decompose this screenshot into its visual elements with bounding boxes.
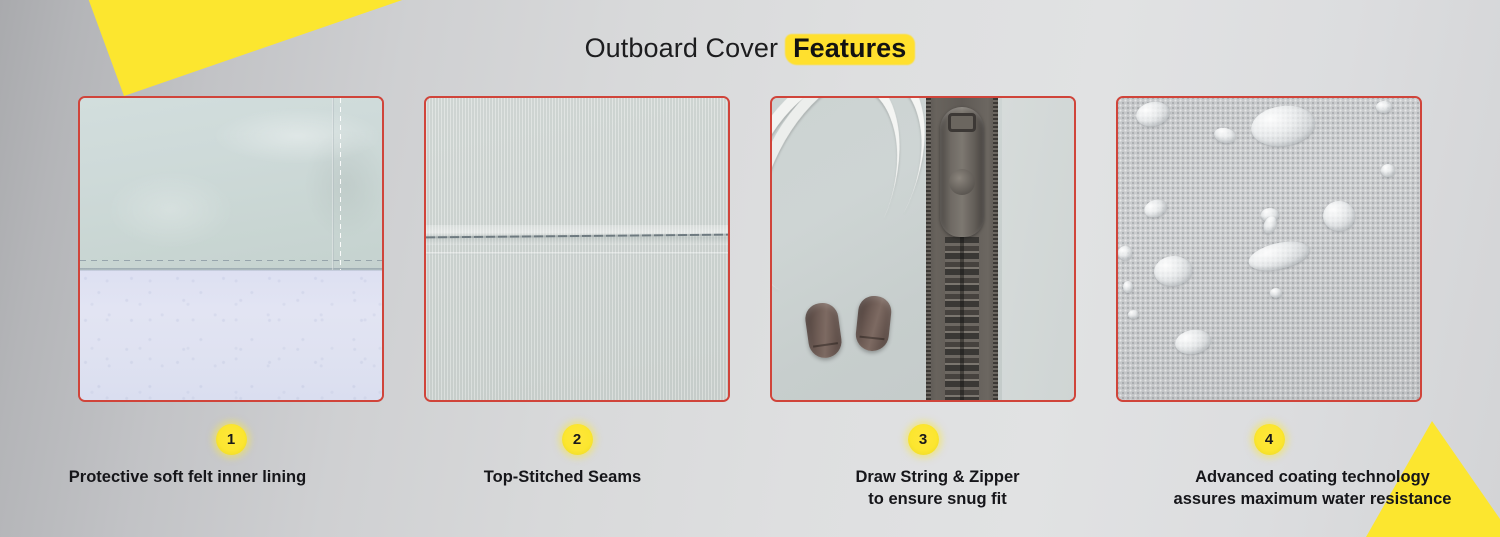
water-resistance-coating-photo [1118, 98, 1420, 400]
draw-string-and-zipper-photo [772, 98, 1074, 400]
feature-panel-2 [424, 96, 730, 402]
feature-number-badge-3: 3 [908, 424, 939, 455]
feature-number-badge-2: 2 [562, 424, 593, 455]
vertical-stitch-line [340, 98, 341, 270]
badge-cell-2: 2 [424, 424, 730, 455]
horizontal-stitch-line [80, 260, 382, 261]
zipper-teeth [945, 237, 979, 400]
water-droplet [1376, 101, 1392, 113]
protective-soft-felt-inner-lining-photo [80, 98, 382, 400]
felt-lining-layer [80, 270, 382, 400]
feature-caption-4: Advanced coating technology assures maxi… [1125, 466, 1500, 511]
water-droplet [1123, 281, 1133, 293]
feature-panel-1 [78, 96, 384, 402]
feature-caption-row: Protective soft felt inner lining Top-St… [0, 466, 1500, 511]
water-droplet [1270, 288, 1282, 298]
water-droplet [1128, 310, 1139, 319]
vertical-seam [332, 98, 334, 270]
feature-panel-4 [1116, 96, 1422, 402]
outboard-cover-features-infographic: Outboard CoverFeatures [0, 0, 1500, 537]
zipper-tape-edge-left [926, 98, 931, 400]
feature-number-badge-4: 4 [1254, 424, 1285, 455]
zipper-tape-edge-right [993, 98, 998, 400]
feature-caption-2-line-1: Top-Stitched Seams [383, 466, 742, 488]
cover-fabric-right [1002, 98, 1074, 400]
fabric-weave-texture [426, 98, 728, 400]
page-title-highlight-wrapper: Features [785, 33, 915, 64]
feature-caption-1: Protective soft felt inner lining [0, 466, 375, 511]
feature-caption-4-line-2: assures maximum water resistance [1133, 488, 1492, 510]
page-title-plain: Outboard Cover [585, 33, 779, 63]
feature-panel-3 [770, 96, 1076, 402]
feature-caption-2: Top-Stitched Seams [375, 466, 750, 511]
page-title-highlight-text: Features [793, 33, 906, 63]
seam-fold-ridge [426, 252, 728, 255]
water-droplet [1381, 164, 1395, 177]
feature-image-row [78, 96, 1422, 402]
page-title: Outboard CoverFeatures [0, 33, 1500, 64]
fabric-felt-seam-edge [80, 268, 382, 271]
feature-caption-3-line-1: Draw String & Zipper [758, 466, 1117, 488]
outer-fabric-layer [80, 98, 382, 270]
top-stitched-seams-photo [426, 98, 728, 400]
badge-cell-1: 1 [78, 424, 384, 455]
water-droplet [1118, 246, 1132, 260]
badge-cell-3: 3 [770, 424, 1076, 455]
badge-cell-4: 4 [1116, 424, 1422, 455]
zipper-tape [926, 98, 998, 400]
zipper-slider-pull [940, 107, 984, 237]
water-droplet [1323, 201, 1355, 231]
feature-caption-3: Draw String & Zipper to ensure snug fit [750, 466, 1125, 511]
feature-number-badge-row: 1 2 3 4 [78, 424, 1422, 455]
feature-caption-4-line-1: Advanced coating technology [1133, 466, 1492, 488]
feature-caption-3-line-2: to ensure snug fit [758, 488, 1117, 510]
feature-caption-1-line-1: Protective soft felt inner lining [8, 466, 367, 488]
feature-number-badge-1: 1 [216, 424, 247, 455]
